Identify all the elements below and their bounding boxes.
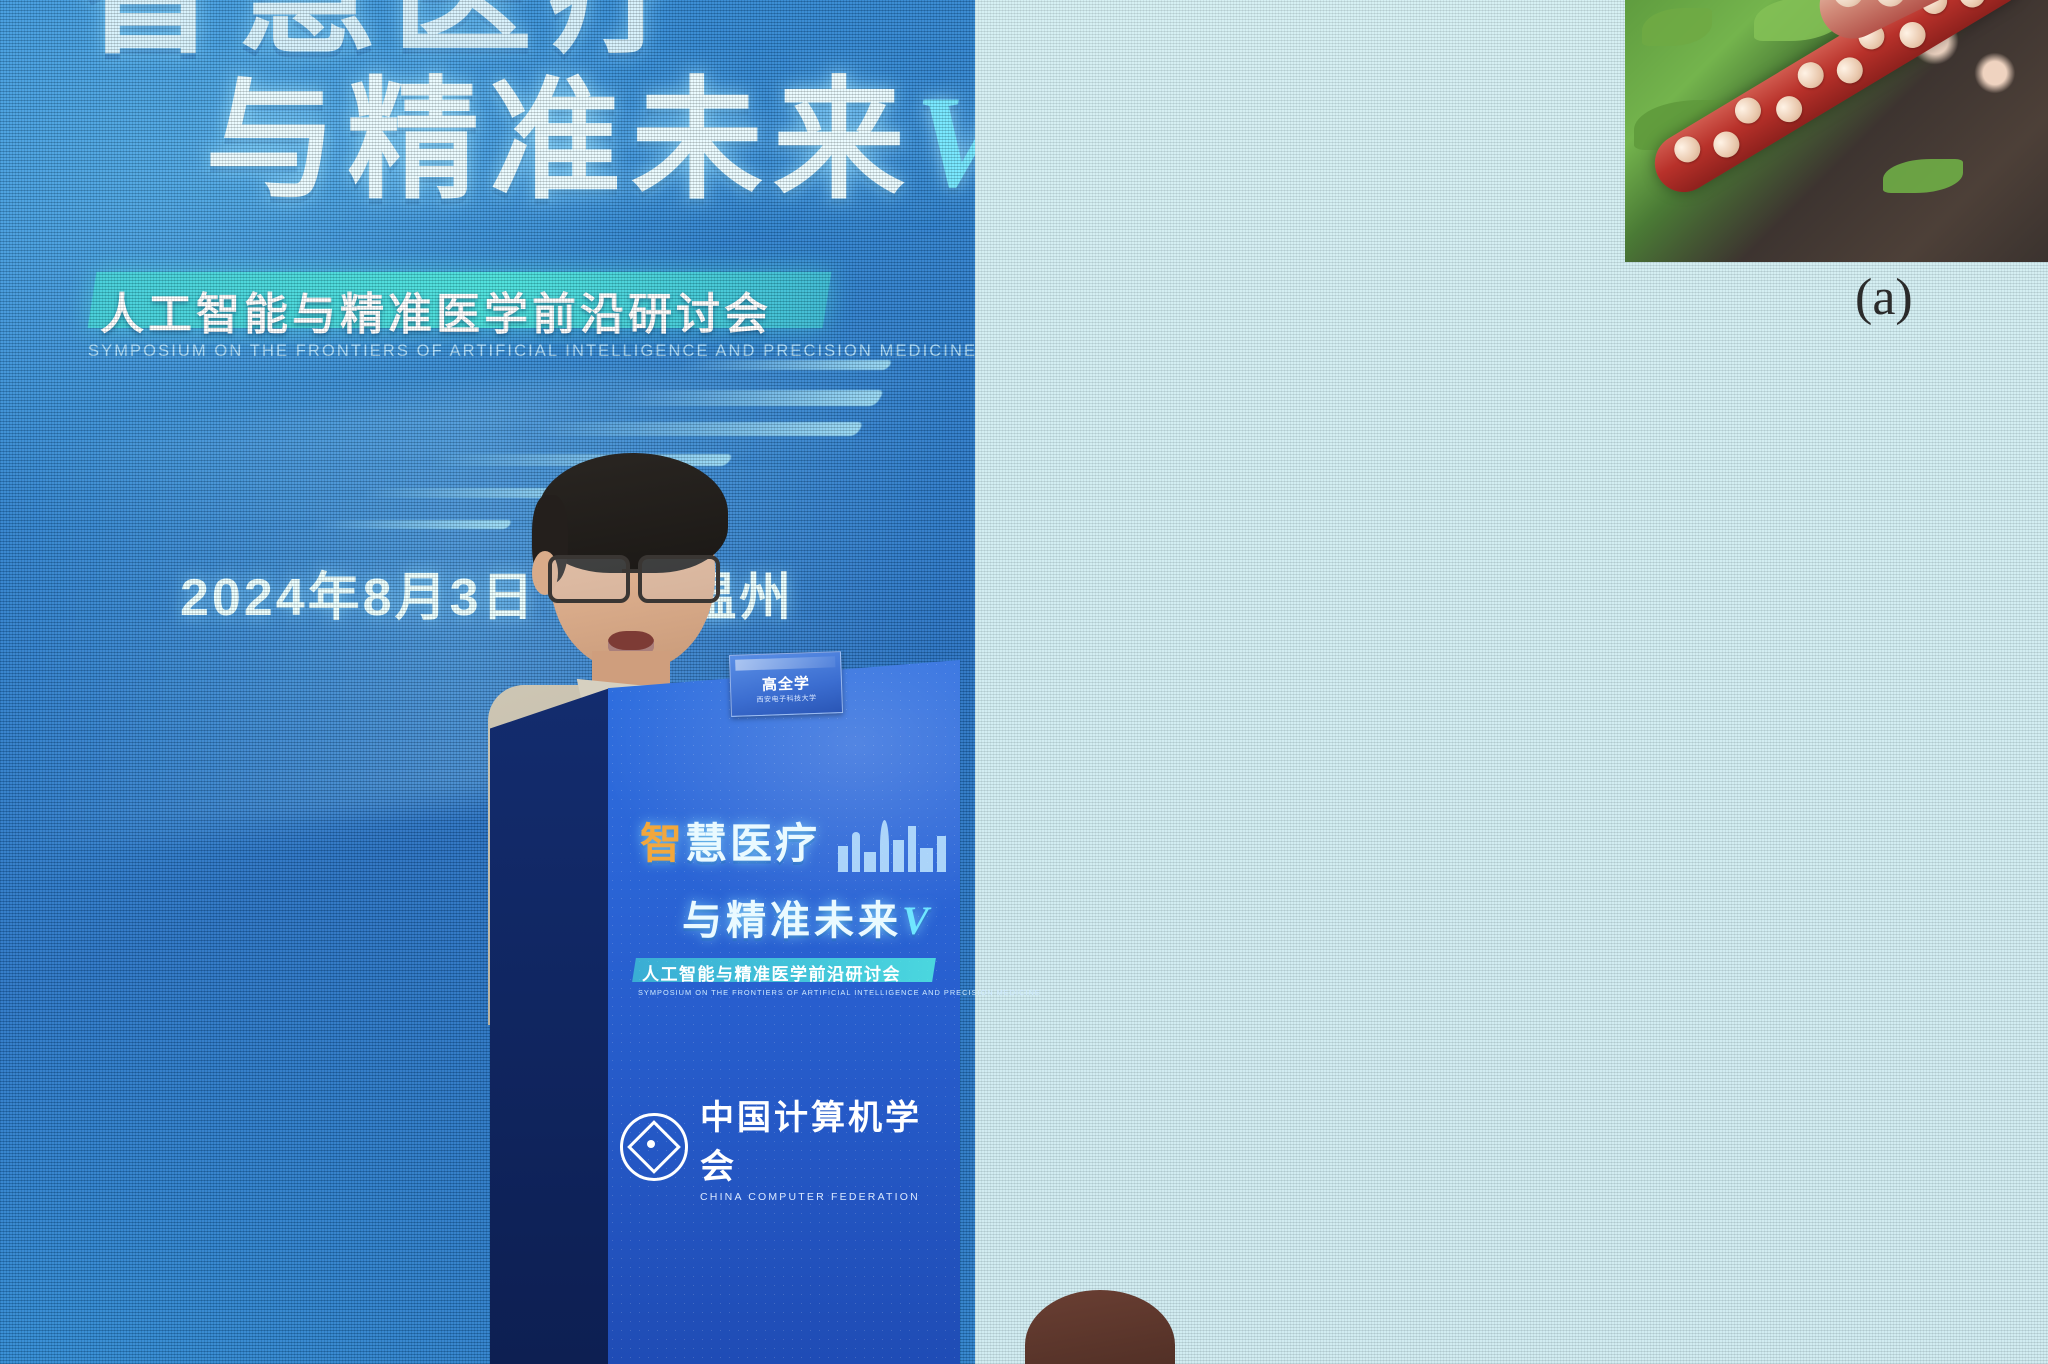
podium-mini-poster: 智慧医疗 与精准未来V 人工智能与精准医学前沿研讨会 SYMPOSIUM ON … xyxy=(626,810,956,1070)
event-subtitle-cn: 人工智能与精准医学前沿研讨会 xyxy=(100,278,860,342)
starfish-photograph xyxy=(1625,0,2048,262)
figure-sublabel-a: (a) xyxy=(1855,268,1913,327)
nameplate-header-bar xyxy=(735,656,835,670)
speaker-nameplate: 高全学 西安电子科技大学 xyxy=(729,651,843,717)
ccf-logo: 中国计算机学会 CHINA COMPUTER FEDERATION xyxy=(620,1090,950,1203)
mini-headline-top: 智慧医疗 xyxy=(640,810,820,871)
ccf-name-en: CHINA COMPUTER FEDERATION xyxy=(700,1191,950,1203)
mini-headline: 与精准未来V xyxy=(682,888,933,946)
podium-side-panel xyxy=(490,688,610,1364)
conference-photo-scene: 智慧医疗 与精准未来V 人工智能与精准医学前沿研讨会 SYMPOSIUM ON … xyxy=(0,0,2048,1364)
city-skyline-icon xyxy=(834,812,954,872)
mini-subtitle-en: SYMPOSIUM ON THE FRONTIERS OF ARTIFICIAL… xyxy=(638,988,1041,997)
event-headline: 与精准未来V xyxy=(205,75,905,208)
event-subtitle-en: SYMPOSIUM ON THE FRONTIERS OF ARTIFICIAL… xyxy=(88,342,848,361)
headline-accent-v: V xyxy=(915,68,975,215)
mini-headline-rest: 慧医疗 xyxy=(685,820,820,867)
mini-subtitle-cn: 人工智能与精准医学前沿研讨会 xyxy=(642,960,901,985)
mini-headline-accent-v: V xyxy=(902,898,933,943)
mini-headline-accent-char: 智 xyxy=(640,820,685,867)
ccf-name-cn: 中国计算机学会 xyxy=(700,1090,950,1188)
event-headline-top: 智慧医疗 xyxy=(80,0,975,62)
ccf-emblem-icon xyxy=(620,1113,688,1181)
podium: 高全学 西安电子科技大学 智慧医疗 与精准未来V 人工智能与精准医学前沿研讨会 … xyxy=(490,660,960,1364)
eyeglasses-icon xyxy=(542,555,724,597)
